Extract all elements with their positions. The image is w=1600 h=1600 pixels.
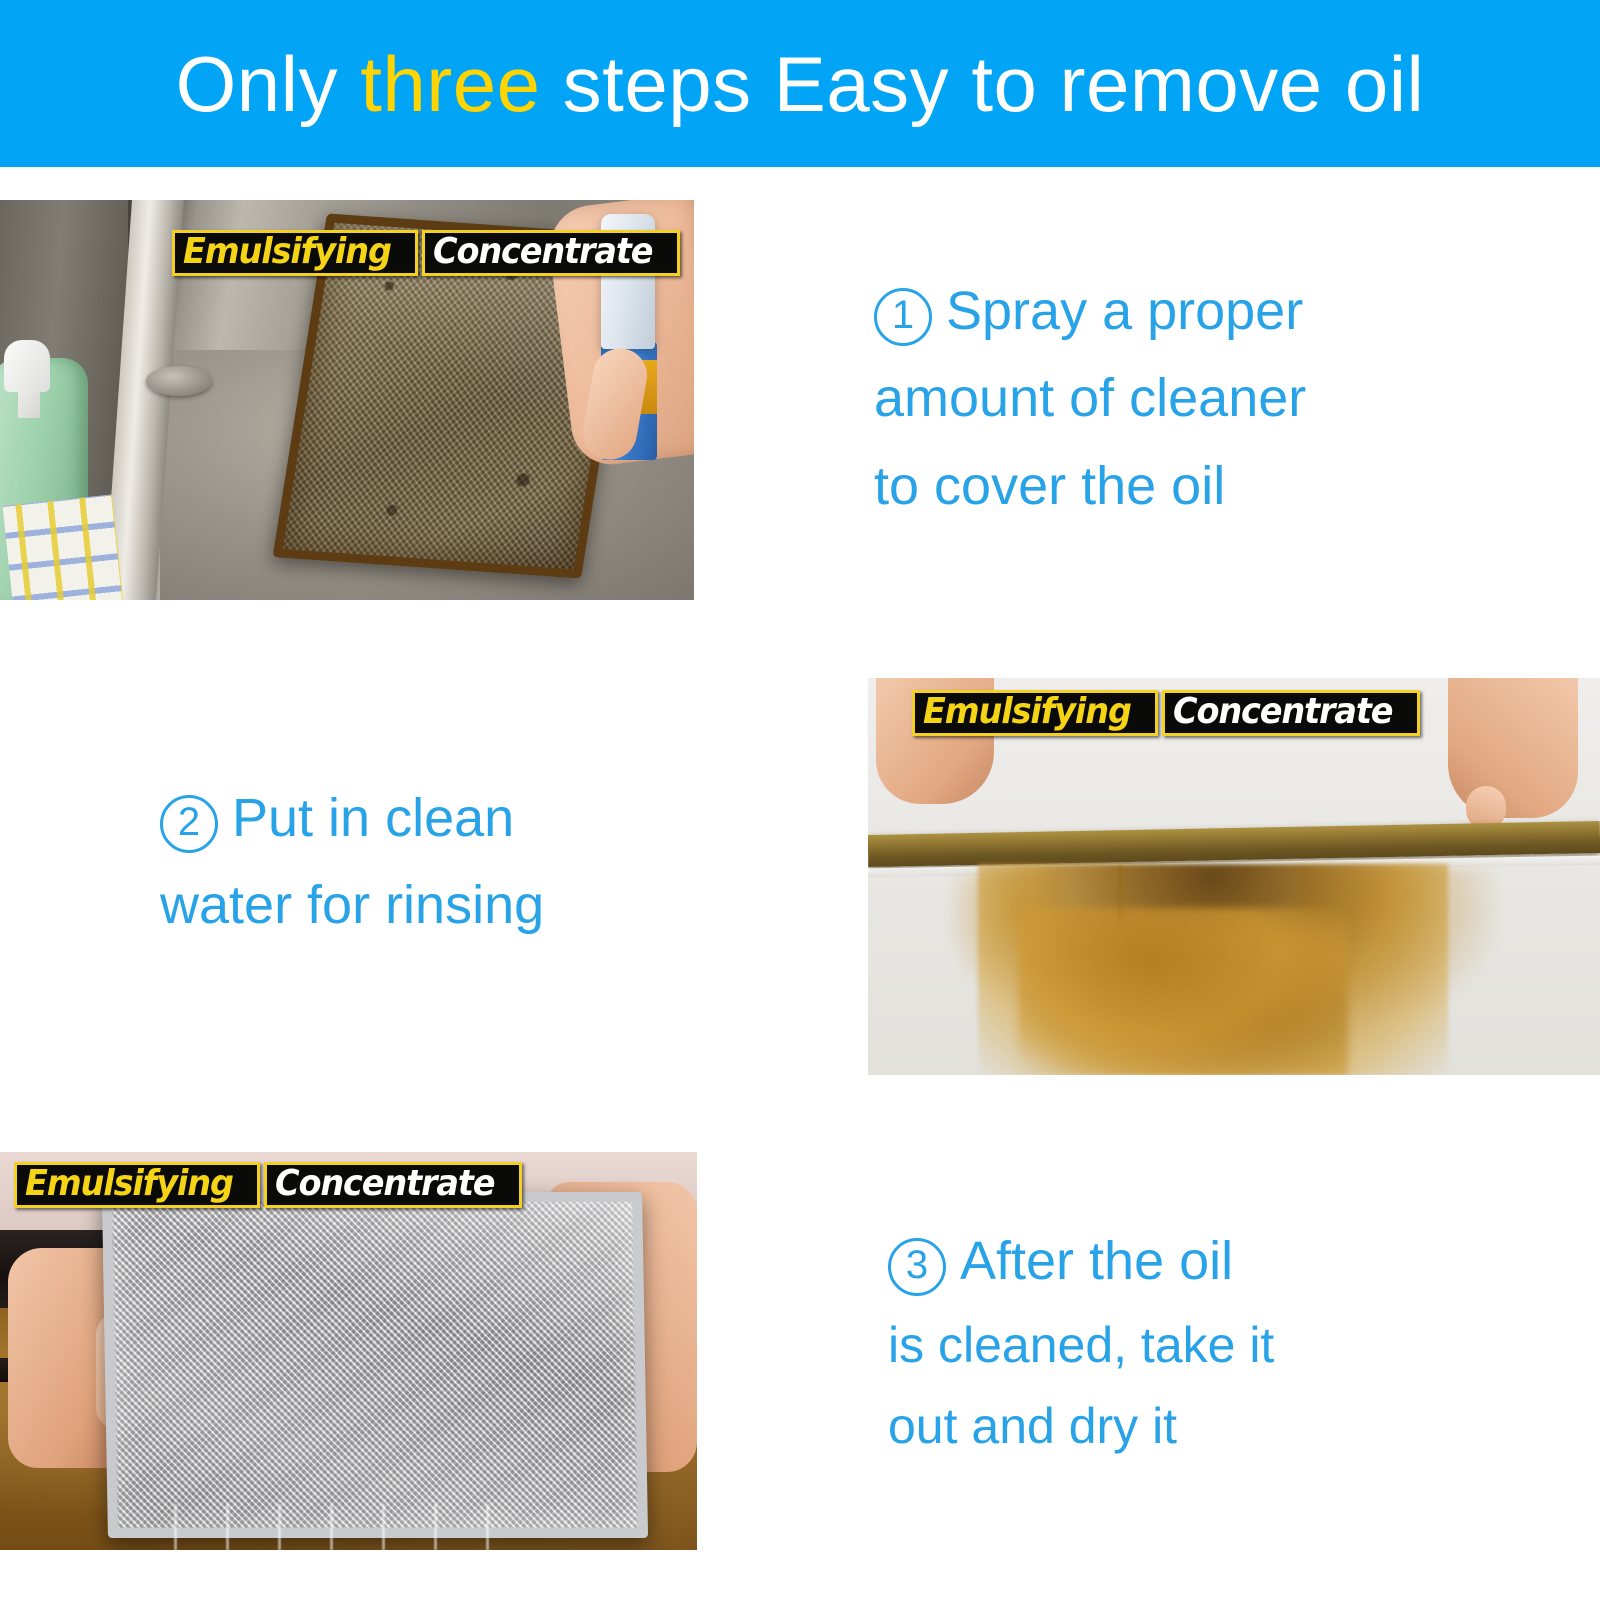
watermark-text-emulsifying: Emulsifying <box>923 694 1131 730</box>
watermark-text-concentrate: Concentrate <box>433 234 652 270</box>
step-3-text-line-2: is cleaned, take it <box>888 1305 1274 1386</box>
step-1-text-line-3: to cover the oil <box>874 443 1306 530</box>
watermark-row-concentrate: Concentrate <box>1162 690 1420 736</box>
oil-plume <box>1018 908 1348 1075</box>
step-2-text-line-1: Put in clean <box>232 788 514 848</box>
watermark-row-emulsifying: Emulsifying <box>172 230 418 276</box>
step-1-instruction: 1Spray a proper amount of cleaner to cov… <box>874 268 1306 530</box>
photo-panel-step-2: Emulsifying Concentrate <box>868 678 1600 1075</box>
watermark-badge: Emulsifying Concentrate <box>172 230 680 276</box>
header-banner: Only three steps Easy to remove oil <box>0 0 1600 167</box>
step-3-text-line-1: After the oil <box>960 1231 1233 1291</box>
watermark-row-concentrate: Concentrate <box>264 1162 522 1208</box>
step-3-line-1: 3After the oil <box>888 1218 1274 1305</box>
patterned-towel <box>3 495 124 600</box>
water-drips <box>150 1504 530 1550</box>
watermark-row-concentrate: Concentrate <box>422 230 680 276</box>
step-1-number-badge: 1 <box>874 288 932 346</box>
step-3-number-badge: 3 <box>888 1238 946 1296</box>
photo-panel-step-3: Emulsifying Concentrate <box>0 1152 697 1550</box>
step-2-number-badge: 2 <box>160 795 218 853</box>
page-title: Only three steps Easy to remove oil <box>176 45 1425 123</box>
photo-panel-step-1: Emulsifying Concentrate <box>0 200 694 600</box>
title-part-2: steps Easy to remove oil <box>540 40 1424 128</box>
watermark-row-emulsifying: Emulsifying <box>14 1162 260 1208</box>
title-highlight-three: three <box>360 40 540 128</box>
step-3-instruction: 3After the oil is cleaned, take it out a… <box>888 1218 1274 1467</box>
step-1-text-line-1: Spray a proper <box>946 281 1303 341</box>
step-2-line-1: 2Put in clean <box>160 775 544 862</box>
watermark-badge: Emulsifying Concentrate <box>912 690 1420 736</box>
title-part-1: Only <box>176 40 361 128</box>
sink-drain-icon <box>146 366 212 396</box>
step-2-instruction: 2Put in clean water for rinsing <box>160 775 544 950</box>
watermark-text-emulsifying: Emulsifying <box>183 234 391 270</box>
step-2-text-line-2: water for rinsing <box>160 862 544 949</box>
watermark-badge: Emulsifying Concentrate <box>14 1162 522 1208</box>
watermark-text-emulsifying: Emulsifying <box>25 1166 233 1202</box>
oil-drip <box>1118 866 1123 928</box>
watermark-text-concentrate: Concentrate <box>275 1166 494 1202</box>
step-1-text-line-2: amount of cleaner <box>874 355 1306 442</box>
soap-dispenser-pump <box>4 340 50 392</box>
watermark-row-emulsifying: Emulsifying <box>912 690 1158 736</box>
hand-right <box>1448 678 1578 818</box>
watermark-text-concentrate: Concentrate <box>1173 694 1392 730</box>
clean-filter <box>102 1192 648 1538</box>
step-1-line-1: 1Spray a proper <box>874 268 1306 355</box>
step-3-text-line-3: out and dry it <box>888 1386 1274 1467</box>
